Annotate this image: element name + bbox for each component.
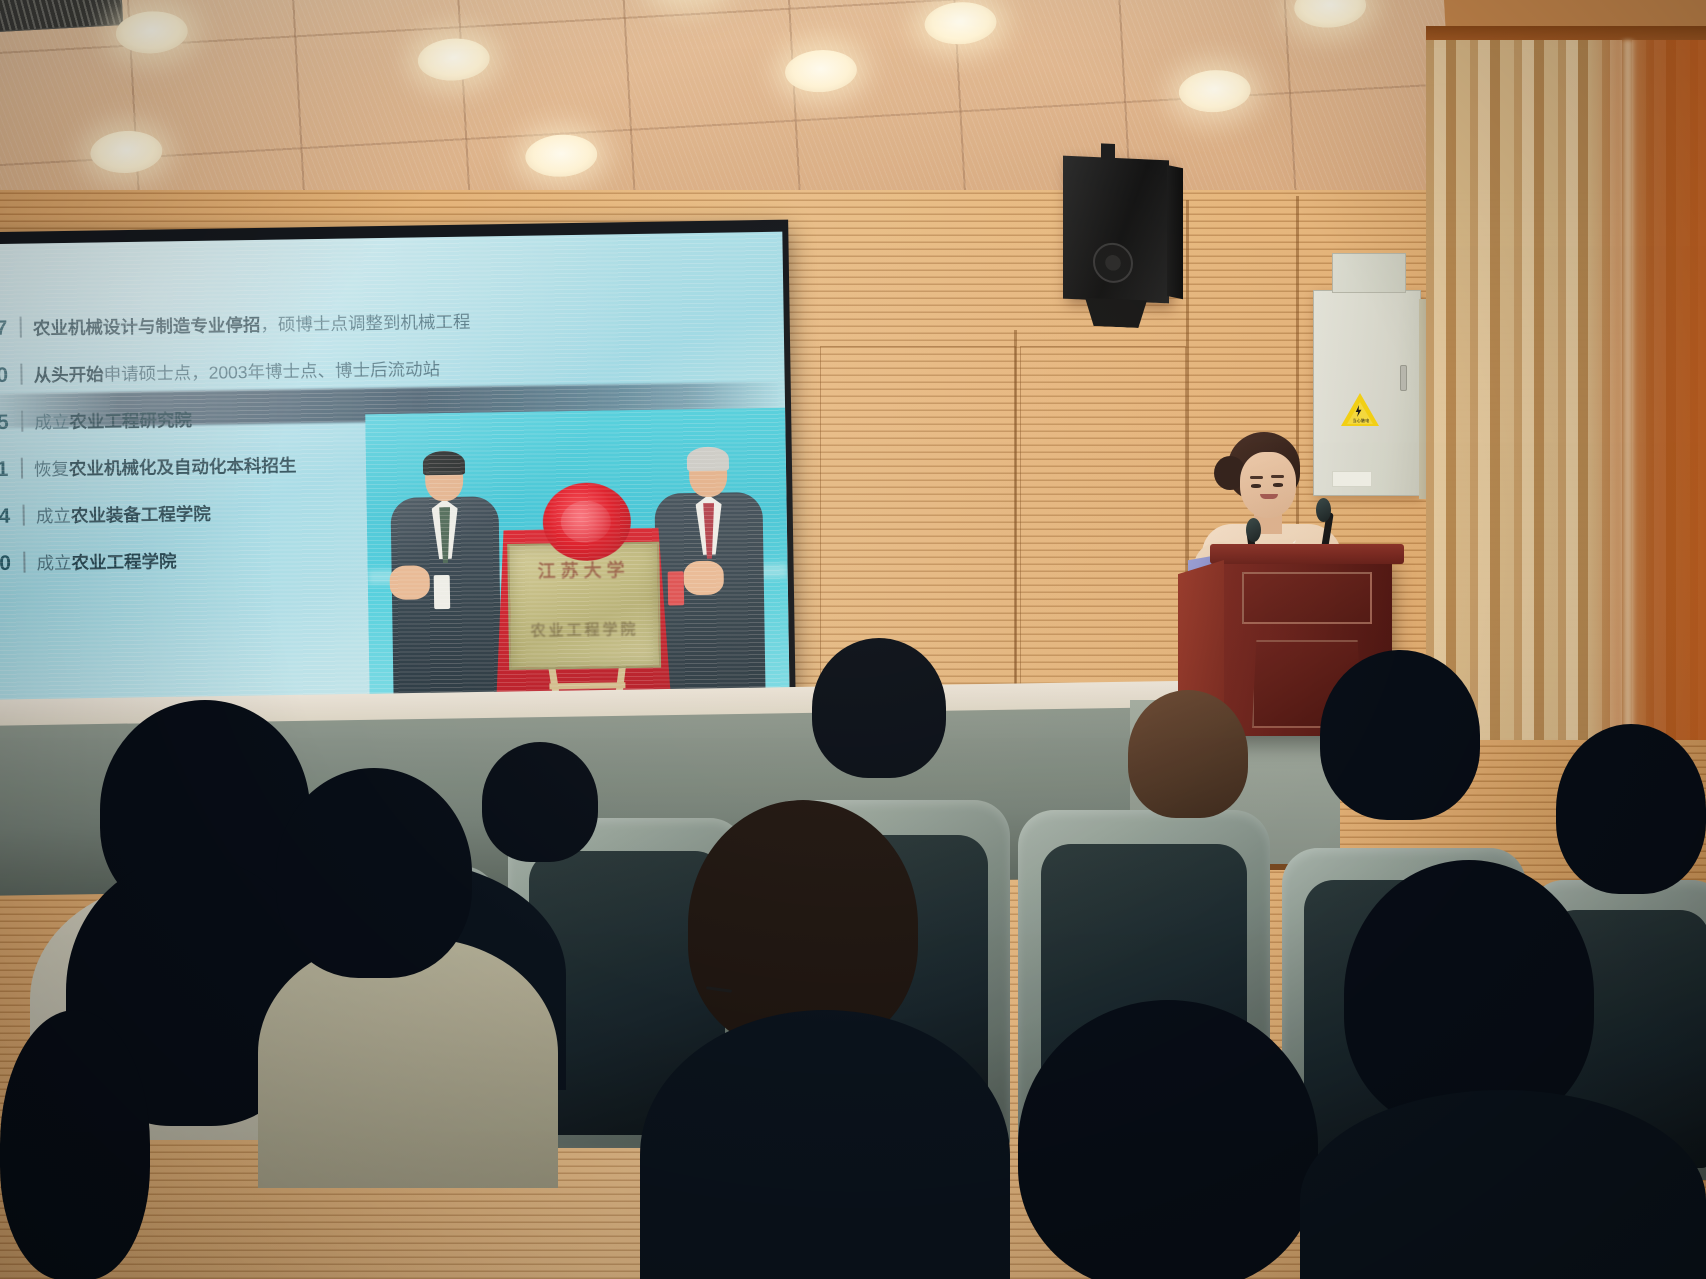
attendee-head (1344, 860, 1594, 1130)
timeline-divider (21, 458, 23, 479)
speaker-bottom-bracket (1085, 298, 1147, 329)
warning-label-text: 当心触电 (1340, 418, 1382, 424)
clapping-hands (683, 561, 724, 596)
presenter-face (1240, 452, 1296, 518)
timeline-divider (23, 505, 25, 526)
speaker-cone-icon (1093, 242, 1133, 284)
speaker-side-face (1167, 165, 1183, 299)
timeline-year: 2020 (0, 552, 12, 577)
timeline-text-lead: 成立 (34, 409, 69, 435)
eye (1251, 484, 1261, 488)
attendee-head (1128, 690, 1248, 818)
timeline-divider (23, 552, 25, 573)
podium-upper-panel (1242, 572, 1372, 624)
cabinet-top-extension (1332, 253, 1406, 293)
attendee-head (276, 768, 472, 978)
eye (1273, 483, 1283, 487)
microphone-icon (1316, 498, 1331, 522)
timeline-text-weak: ，硕博士点调整到机械工程 (260, 309, 470, 337)
presenter-mouth (1260, 494, 1278, 499)
timeline-year: 2014 (0, 505, 11, 530)
clapping-hands (390, 565, 431, 600)
name-badge (434, 575, 451, 609)
curtain-highlight (1620, 40, 1636, 740)
timeline-text-lead: 成立 (36, 550, 71, 576)
attendee-head (1018, 1000, 1318, 1279)
timeline-text-strong: 农业工程学院 (71, 548, 176, 575)
attendee-head (1556, 724, 1706, 894)
timeline-year: 1997 (0, 317, 8, 342)
timeline-divider (20, 317, 22, 338)
eyebrow (1271, 475, 1284, 478)
timeline-text-strong: 农业装备工程学院 (71, 501, 211, 528)
timeline-text-strong: 农业机械设计与制造专业停招 (33, 312, 261, 341)
speaker-mount-bracket (1101, 143, 1115, 160)
timeline-text-strong: 从头开始 (33, 361, 103, 387)
easel-crossbar (549, 682, 625, 689)
curtain-shadow (1586, 40, 1706, 740)
eyebrow (1250, 476, 1263, 479)
attendee-head (0, 1010, 150, 1279)
cabinet-handle[interactable] (1400, 365, 1407, 391)
attendee-head (812, 638, 946, 778)
lecture-hall-photo: ▸ 1997 农业机械设计与制造专业停招 ，硕博士点调整到机械工程 ▸ 2000… (0, 0, 1706, 1279)
microphone-icon (1246, 518, 1261, 542)
hair (687, 447, 729, 472)
slide-surface: ▸ 1997 农业机械设计与制造专业停招 ，硕博士点调整到机械工程 ▸ 2000… (0, 232, 790, 712)
attendee-head (482, 742, 598, 862)
plaque-assembly: 江苏大学 农业工程学院 (484, 459, 678, 711)
timeline-year: 2000 (0, 364, 9, 389)
attendee-head (1320, 650, 1480, 820)
slide-ceremony-photo: 江苏大学 农业工程学院 (365, 408, 790, 712)
timeline-text-strong: 农业机械化及自动化本科招生 (69, 452, 297, 481)
loudspeaker (1063, 156, 1169, 304)
wall-panel (1020, 346, 1186, 710)
timeline-divider (20, 364, 22, 385)
podium-top-edge (1210, 544, 1404, 564)
timeline-year: 2011 (0, 458, 9, 483)
timeline-text-lead: 成立 (36, 503, 71, 529)
projection-screen: ▸ 1997 农业机械设计与制造专业停招 ，硕博士点调整到机械工程 ▸ 2000… (0, 220, 796, 720)
commemorative-plaque: 江苏大学 农业工程学院 (507, 542, 661, 670)
timeline-text-lead: 恢复 (34, 456, 69, 482)
glasses-icon (426, 472, 462, 481)
timeline-text-strong: 农业工程研究院 (69, 407, 192, 434)
timeline-divider (21, 411, 23, 432)
timeline-text-weak: 申请硕士点，2003年博士点、博士后流动站 (103, 356, 440, 386)
timeline-year: 2005 (0, 411, 10, 436)
plaque-line-2: 农业工程学院 (510, 618, 658, 641)
